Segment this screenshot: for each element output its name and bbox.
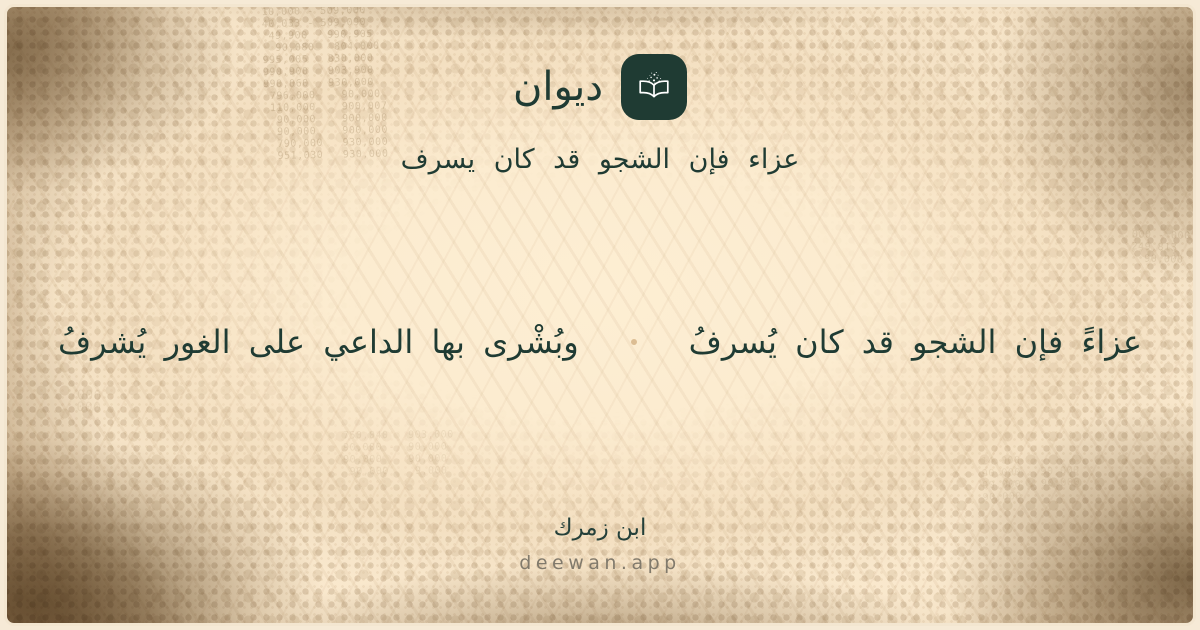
site-url: deewan.app [0,552,1200,574]
open-book-sparkles-icon [621,54,687,120]
card-footer: ابن زمرك deewan.app [0,514,1200,574]
poem-subtitle: عزاء فإن الشجو قد كان يسرف [401,144,800,175]
dot-separator-icon [631,339,637,345]
poem-card: 10,000 - 509,000 40,033 - 509,090 49,900… [0,0,1200,630]
card-content: ديوان عزاء فإن الشجو قد كان يسرف عزاءً ف… [0,0,1200,630]
hemistich-left: وبُشْرى بها الداعي على الغور يُشرفُ [58,318,579,366]
brand-lockup: ديوان [513,54,687,120]
poet-name: ابن زمرك [0,514,1200,544]
hemistich-right: عزاءً فإن الشجو قد كان يُسرفُ [689,318,1142,366]
brand-name: ديوان [513,67,603,107]
verse-line: عزاءً فإن الشجو قد كان يُسرفُ وبُشْرى به… [0,318,1200,366]
